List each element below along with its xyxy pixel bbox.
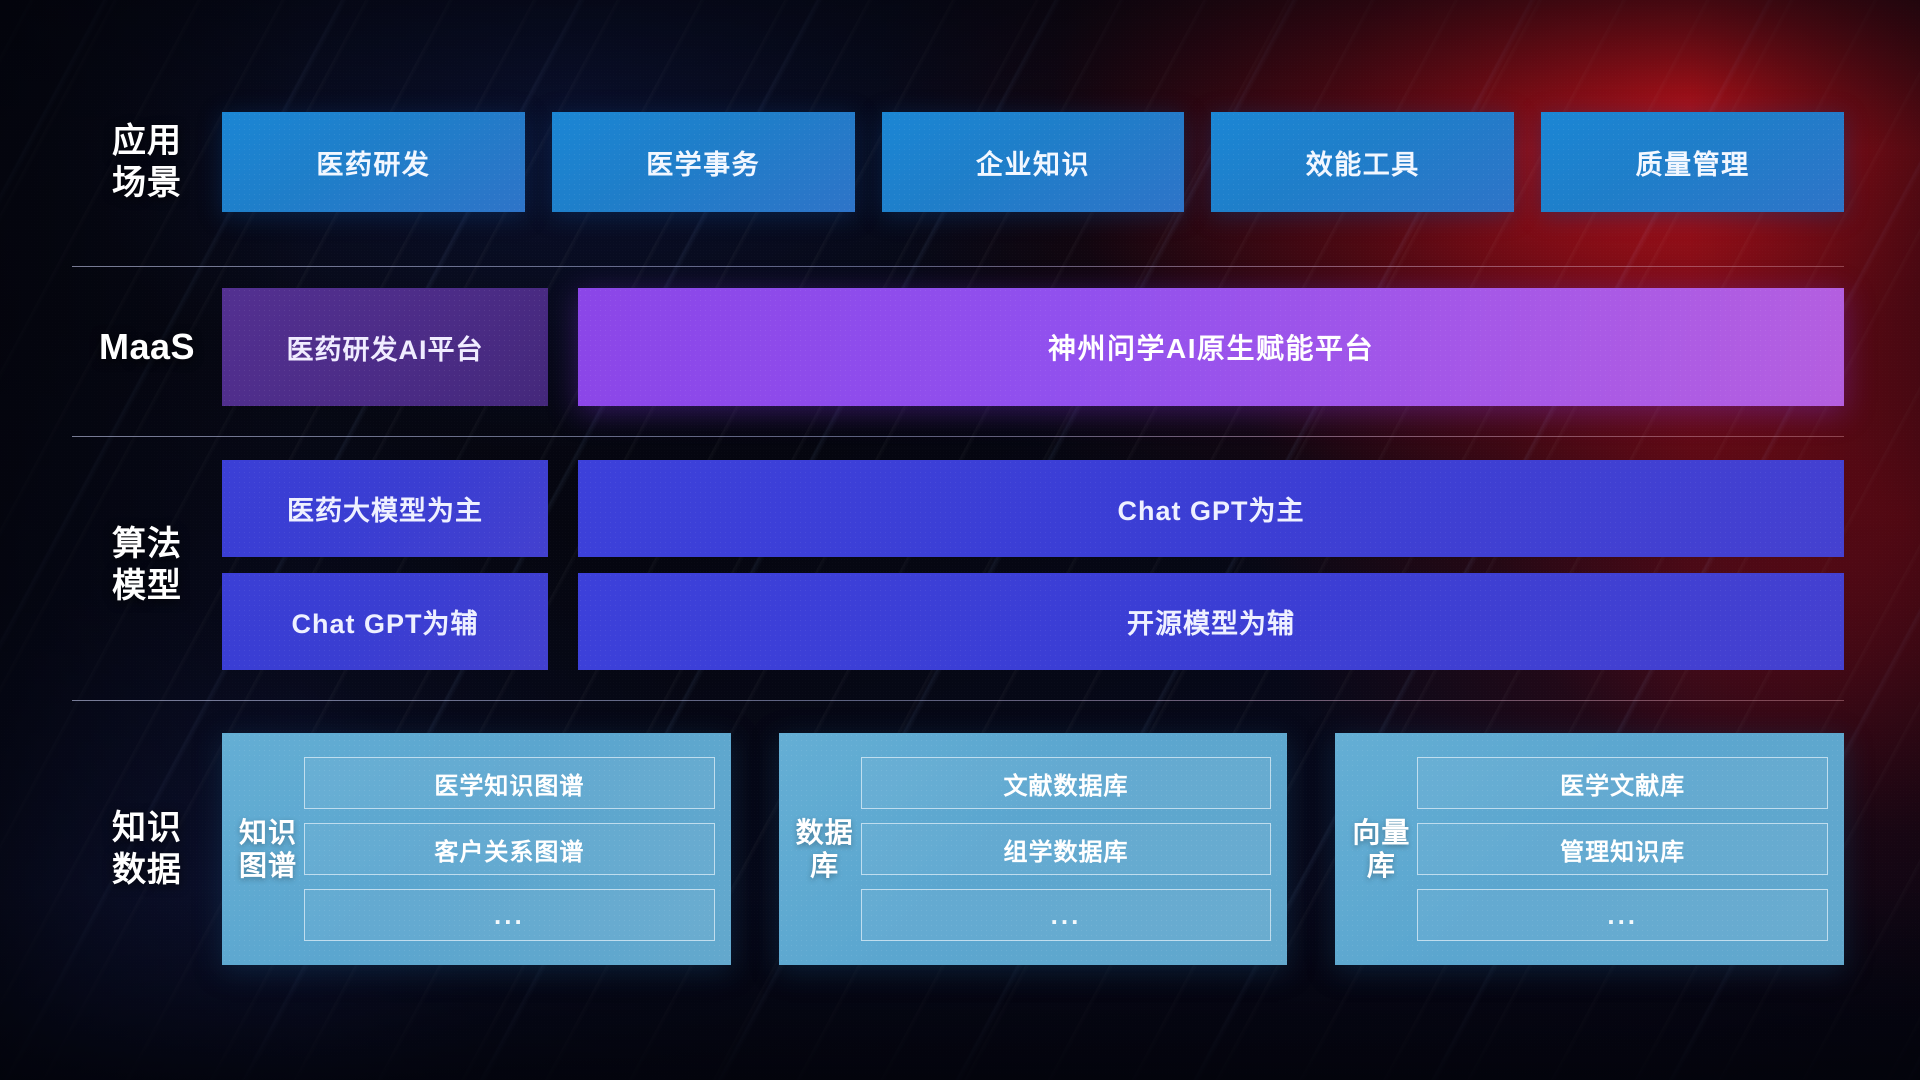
algo-box-opensource-secondary[interactable]: 开源模型为辅 xyxy=(578,573,1844,670)
algorithm-model-line-secondary: Chat GPT为辅 开源模型为辅 xyxy=(222,573,1844,670)
knowledge-panel-title-knowledge-graph: 知识图谱 xyxy=(232,747,304,951)
diagram-rows: 应用 场景 医药研发 医学事务 企业知识 效能工具 质量管理 MaaS 医药研发… xyxy=(0,0,1920,1080)
knowledge-item-more-database[interactable]: ... xyxy=(861,889,1272,941)
row-label-algorithm-model: 算法 模型 xyxy=(72,523,222,607)
maas-box-drug-rd-ai-platform[interactable]: 医药研发AI平台 xyxy=(222,288,548,406)
row-application-scenario: 应用 场景 医药研发 医学事务 企业知识 效能工具 质量管理 xyxy=(72,112,1844,212)
application-scenario-grid: 医药研发 医学事务 企业知识 效能工具 质量管理 xyxy=(222,112,1844,212)
algo-box-chatgpt-secondary[interactable]: Chat GPT为辅 xyxy=(222,573,548,670)
maas-box-shenzhou-wenxue-platform[interactable]: 神州问学AI原生赋能平台 xyxy=(578,288,1844,406)
row-label-maas: MaaS xyxy=(72,325,222,370)
algorithm-model-stack: 医药大模型为主 Chat GPT为主 Chat GPT为辅 开源模型为辅 xyxy=(222,460,1844,670)
divider-after-maas xyxy=(72,436,1844,437)
row-label-knowledge-data: 知识 数据 xyxy=(72,807,222,891)
knowledge-item-more-vector-store[interactable]: ... xyxy=(1417,889,1828,941)
row-maas: MaaS 医药研发AI平台 神州问学AI原生赋能平台 xyxy=(72,288,1844,406)
scenario-box-quality-management[interactable]: 质量管理 xyxy=(1541,112,1844,212)
scenario-box-medical-affairs[interactable]: 医学事务 xyxy=(552,112,855,212)
knowledge-item-omics-database[interactable]: 组学数据库 xyxy=(861,823,1272,875)
knowledge-panel-items-vector-store: 医学文献库 管理知识库 ... xyxy=(1417,747,1828,951)
algorithm-model-line-primary: 医药大模型为主 Chat GPT为主 xyxy=(222,460,1844,557)
knowledge-item-more-knowledge-graph[interactable]: ... xyxy=(304,889,715,941)
knowledge-panel-vector-store[interactable]: 向量库 医学文献库 管理知识库 ... xyxy=(1335,733,1844,965)
knowledge-panel-title-vector-store: 向量库 xyxy=(1345,747,1417,951)
knowledge-panel-title-database: 数据库 xyxy=(789,747,861,951)
row-body-algorithm-model: 医药大模型为主 Chat GPT为主 Chat GPT为辅 开源模型为辅 xyxy=(222,460,1844,670)
row-body-knowledge-data: 知识图谱 医学知识图谱 客户关系图谱 ... 数据库 文献数据库 组学数据库 .… xyxy=(222,733,1844,965)
algo-box-pharma-llm-primary[interactable]: 医药大模型为主 xyxy=(222,460,548,557)
row-body-application-scenario: 医药研发 医学事务 企业知识 效能工具 质量管理 xyxy=(222,112,1844,212)
knowledge-panel-knowledge-graph[interactable]: 知识图谱 医学知识图谱 客户关系图谱 ... xyxy=(222,733,731,965)
knowledge-item-medical-knowledge-graph[interactable]: 医学知识图谱 xyxy=(304,757,715,809)
architecture-diagram: 应用 场景 医药研发 医学事务 企业知识 效能工具 质量管理 MaaS 医药研发… xyxy=(0,0,1920,1080)
row-label-application-scenario: 应用 场景 xyxy=(72,120,222,204)
knowledge-item-literature-database[interactable]: 文献数据库 xyxy=(861,757,1272,809)
knowledge-item-medical-literature-store[interactable]: 医学文献库 xyxy=(1417,757,1828,809)
knowledge-panel-items-knowledge-graph: 医学知识图谱 客户关系图谱 ... xyxy=(304,747,715,951)
row-knowledge-data: 知识 数据 知识图谱 医学知识图谱 客户关系图谱 ... 数据库 xyxy=(72,733,1844,965)
row-algorithm-model: 算法 模型 医药大模型为主 Chat GPT为主 Chat GPT为辅 开源模型… xyxy=(72,460,1844,670)
row-body-maas: 医药研发AI平台 神州问学AI原生赋能平台 xyxy=(222,288,1844,406)
knowledge-item-customer-relation-graph[interactable]: 客户关系图谱 xyxy=(304,823,715,875)
scenario-box-drug-rd[interactable]: 医药研发 xyxy=(222,112,525,212)
algo-box-chatgpt-primary[interactable]: Chat GPT为主 xyxy=(578,460,1844,557)
divider-after-algorithm-model xyxy=(72,700,1844,701)
scenario-box-efficiency-tools[interactable]: 效能工具 xyxy=(1211,112,1514,212)
maas-grid: 医药研发AI平台 神州问学AI原生赋能平台 xyxy=(222,288,1844,406)
knowledge-panel-database[interactable]: 数据库 文献数据库 组学数据库 ... xyxy=(779,733,1288,965)
knowledge-panel-items-database: 文献数据库 组学数据库 ... xyxy=(861,747,1272,951)
knowledge-item-management-knowledge-store[interactable]: 管理知识库 xyxy=(1417,823,1828,875)
knowledge-data-grid: 知识图谱 医学知识图谱 客户关系图谱 ... 数据库 文献数据库 组学数据库 .… xyxy=(222,733,1844,965)
divider-after-application-scenario xyxy=(72,266,1844,267)
scenario-box-enterprise-knowledge[interactable]: 企业知识 xyxy=(882,112,1185,212)
